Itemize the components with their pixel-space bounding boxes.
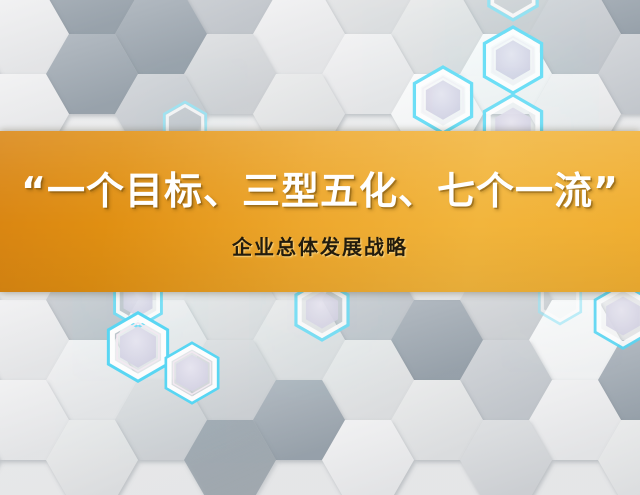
page-subtitle: 企业总体发展战略 [232, 231, 408, 260]
title-band-content: “一个目标、三型五化、七个一流” 企业总体发展战略 [0, 131, 640, 292]
title-band: “一个目标、三型五化、七个一流” 企业总体发展战略 [0, 131, 640, 292]
page-title: “一个目标、三型五化、七个一流” [21, 169, 619, 214]
slide-canvas: “一个目标、三型五化、七个一流” 企业总体发展战略 [0, 0, 640, 495]
